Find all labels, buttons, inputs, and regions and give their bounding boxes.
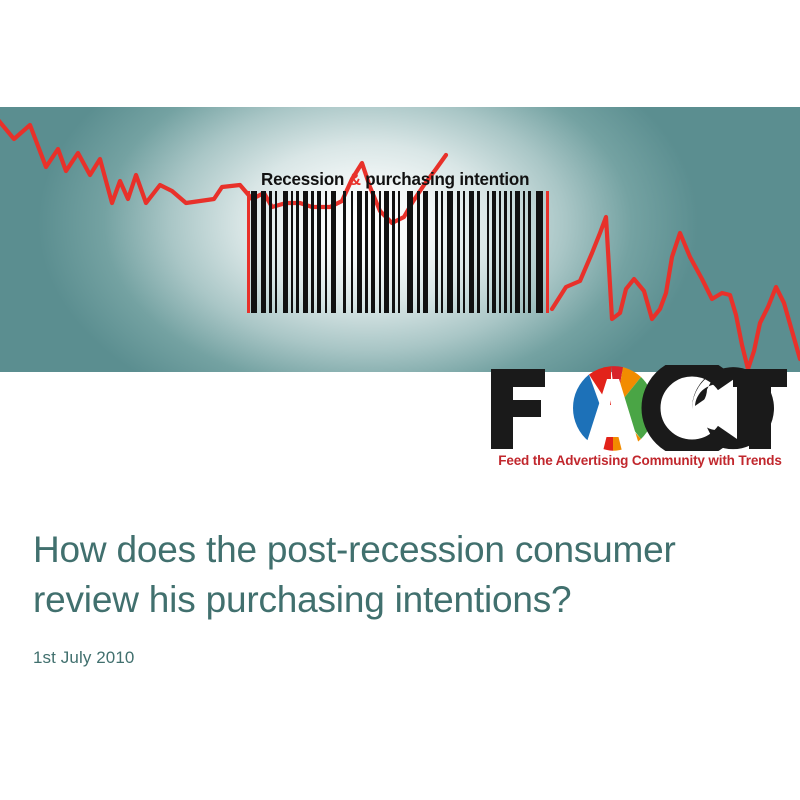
page-title-line-2: review his purchasing intentions? bbox=[33, 579, 571, 620]
slide-page: { "slide": { "background_color": "#fffff… bbox=[0, 0, 800, 800]
barcode-graphic: Recession & purchasing intention bbox=[247, 165, 552, 313]
fact-logo: Feed the Advertising Community with Tren… bbox=[489, 365, 789, 477]
fact-logo-tagline: Feed the Advertising Community with Tren… bbox=[491, 453, 789, 468]
page-title: How does the post-recession consumer rev… bbox=[33, 525, 773, 626]
page-title-line-1: How does the post-recession consumer bbox=[33, 529, 676, 570]
barcode-label-part1: Recession bbox=[261, 169, 349, 189]
barcode-label: Recession & purchasing intention bbox=[261, 165, 531, 193]
fact-logo-mark bbox=[489, 365, 789, 451]
trend-line-right bbox=[552, 217, 800, 369]
slide-date: 1st July 2010 bbox=[33, 648, 773, 668]
logo-letter-f bbox=[491, 369, 545, 449]
hero-banner: Recession & purchasing intention bbox=[0, 107, 800, 372]
barcode-label-ampersand: & bbox=[349, 169, 361, 189]
barcode-bars bbox=[247, 191, 552, 313]
title-block: How does the post-recession consumer rev… bbox=[33, 525, 773, 668]
barcode-label-part2: purchasing intention bbox=[361, 169, 530, 189]
